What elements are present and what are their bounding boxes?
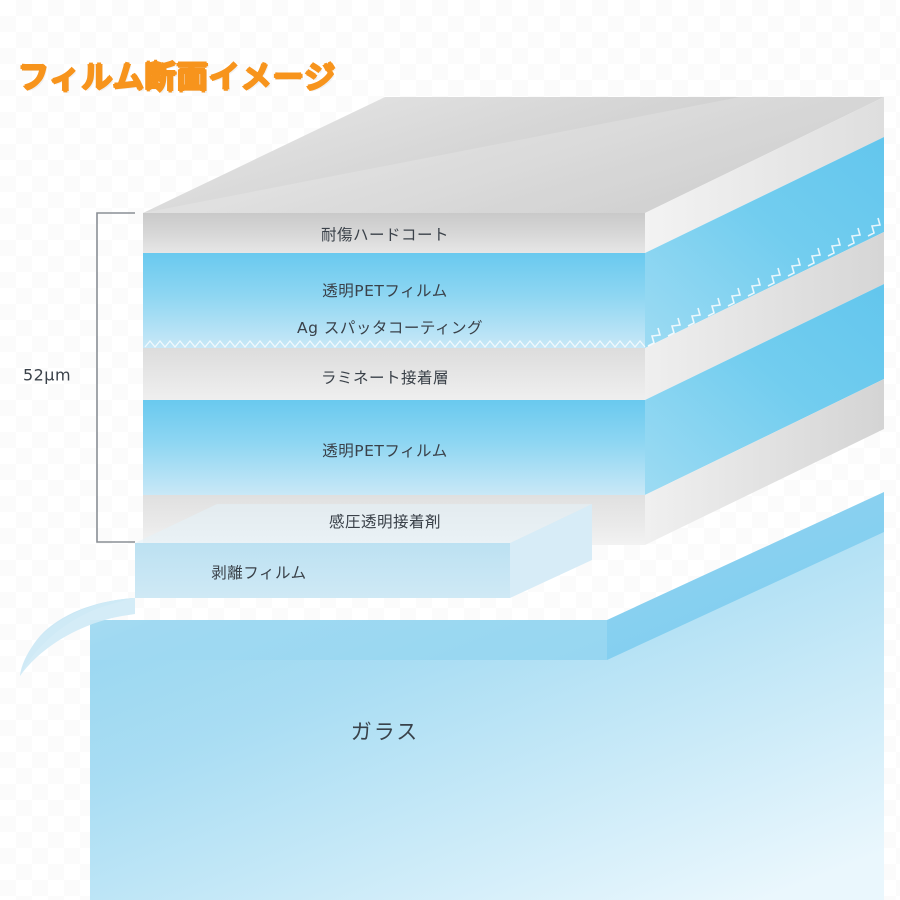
film-cross-section-diagram: フィルム断面イメージ 52μm 耐傷ハードコート 透明PETフィルム Ag スパ… bbox=[0, 0, 900, 900]
diagram-canvas bbox=[0, 0, 900, 900]
layer-label-psa-adhesive: 感圧透明接着剤 bbox=[329, 510, 441, 532]
layer-label-release-film: 剥離フィルム bbox=[211, 561, 306, 583]
total-thickness-bracket bbox=[97, 213, 135, 542]
layer-label-pet-film-top: 透明PETフィルム bbox=[322, 279, 448, 301]
layer-label-laminate-adhesive: ラミネート接着層 bbox=[321, 366, 449, 388]
film-stack bbox=[143, 97, 884, 545]
thickness-label: 52μm bbox=[23, 366, 71, 385]
layer-label-ag-sputter: Ag スパッタコーティング bbox=[297, 316, 483, 338]
page-title: フィルム断面イメージ bbox=[18, 52, 336, 97]
release-film-front-face bbox=[135, 543, 510, 598]
substrate-label-glass: ガラス bbox=[351, 716, 420, 746]
layer-label-pet-film-bottom: 透明PETフィルム bbox=[322, 439, 448, 461]
layer-label-hard-coat: 耐傷ハードコート bbox=[321, 223, 449, 245]
glass-bevel bbox=[90, 620, 607, 660]
